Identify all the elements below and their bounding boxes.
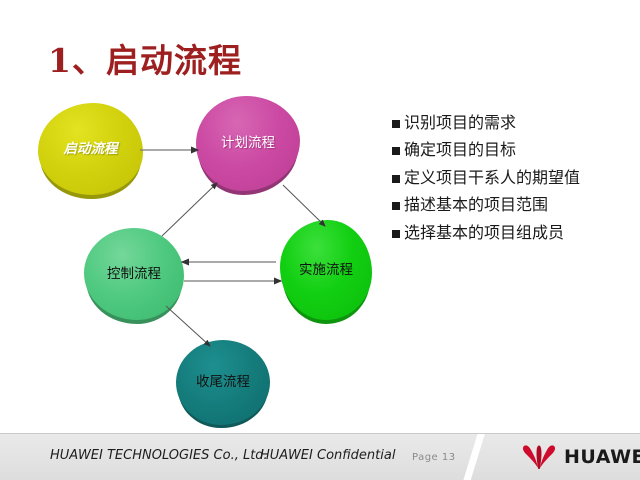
footer-confidential-text: HUAWEI Confidential [260,448,395,463]
bullet-list: 识别项目的需求 确定项目的目标 定义项目干系人的期望值 描述基本的项目范围 选择… [392,114,632,251]
footer-divider [459,433,487,480]
footer-company-text: HUAWEI TECHNOLOGIES Co., Ltd. [50,448,268,463]
huawei-flower-logo-icon [522,444,556,470]
slide-footer: HUAWEI TECHNOLOGIES Co., Ltd. HUAWEI Con… [0,433,640,480]
list-item: 识别项目的需求 [392,114,632,132]
slide-canvas: 1、启动流程 启动流程 计划流程 控制流程 实施流程 收尾流程 [0,0,640,480]
diagram-node-closure-label: 收尾流程 [196,375,250,390]
diagram-node-start[interactable]: 启动流程 [38,103,143,195]
page-title: 1、启动流程 [48,34,242,82]
list-item: 描述基本的项目范围 [392,196,632,214]
square-bullet-icon [392,230,400,238]
list-item: 定义项目干系人的期望值 [392,169,632,187]
square-bullet-icon [392,147,400,155]
huawei-wordmark: HUAWEI [564,446,640,468]
page-number: Page 13 [412,452,456,463]
diagram-node-control-label: 控制流程 [107,267,161,282]
square-bullet-icon [392,202,400,210]
diagram-node-control[interactable]: 控制流程 [84,228,184,320]
list-item-label: 识别项目的需求 [404,114,516,132]
list-item-label: 确定项目的目标 [404,141,516,159]
diagram-node-plan-label: 计划流程 [221,136,275,151]
list-item-label: 描述基本的项目范围 [404,196,548,214]
list-item-label: 选择基本的项目组成员 [404,224,564,242]
diagram-node-start-label: 启动流程 [64,142,118,157]
square-bullet-icon [392,120,400,128]
list-item-label: 定义项目干系人的期望值 [404,169,580,187]
diagram-node-implementation-label: 实施流程 [299,263,353,278]
list-item: 确定项目的目标 [392,141,632,159]
diagram-node-implementation[interactable]: 实施流程 [280,220,372,320]
square-bullet-icon [392,175,400,183]
process-flow-diagram: 启动流程 计划流程 控制流程 实施流程 收尾流程 [0,88,400,438]
diagram-node-closure[interactable]: 收尾流程 [176,340,270,425]
list-item: 选择基本的项目组成员 [392,224,632,242]
huawei-brand: HUAWEI [522,444,640,470]
diagram-node-plan[interactable]: 计划流程 [196,96,300,191]
